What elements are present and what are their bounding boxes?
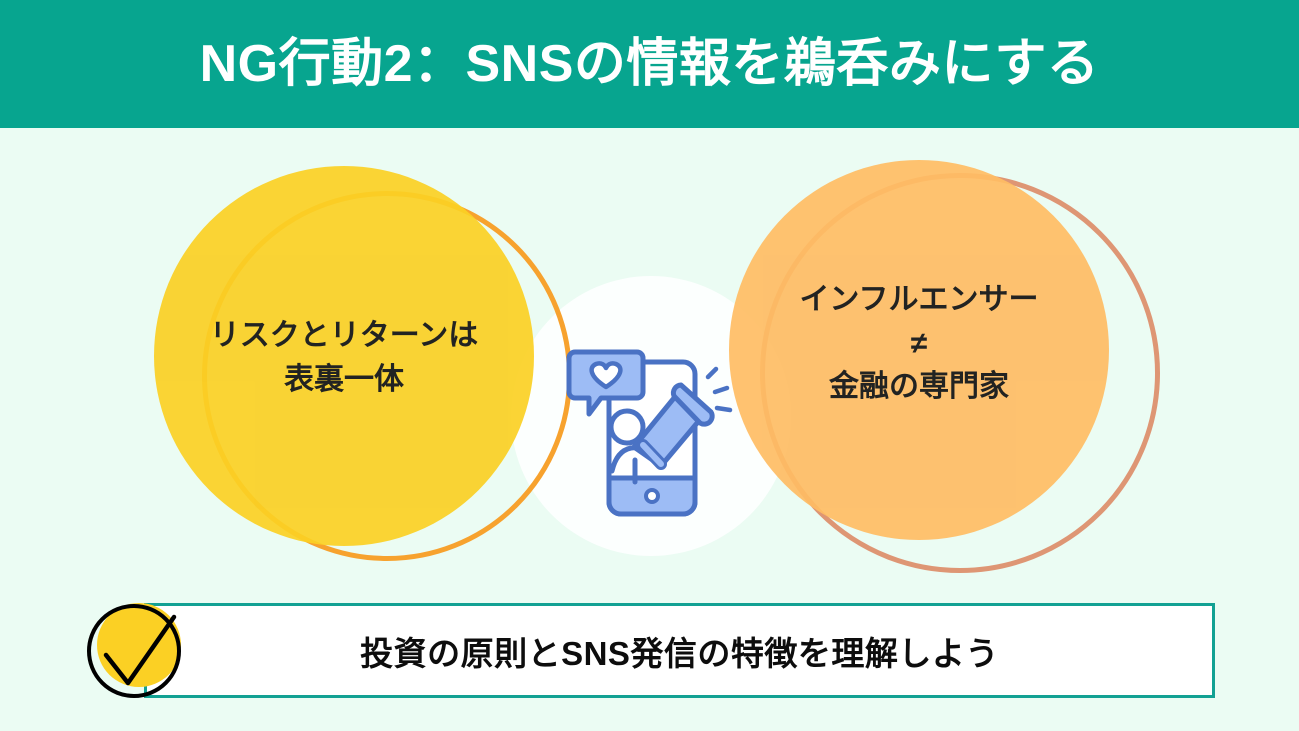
page-title: NG行動2：SNSの情報を鵜呑みにする xyxy=(200,38,1100,90)
concept-label-risk-return: リスクとリターンは 表裏一体 xyxy=(154,314,534,401)
diagram-stage: リスクとリターンは 表裏一体 インフルエンサー ≠ 金融の専門家 xyxy=(0,128,1299,598)
slide-root: NG行動2：SNSの情報を鵜呑みにする リスクとリターンは 表裏一体 インフルエ… xyxy=(0,0,1299,731)
header-bar: NG行動2：SNSの情報を鵜呑みにする xyxy=(0,0,1299,128)
sns-megaphone-phone-icon xyxy=(565,340,735,530)
takeaway-text: 投資の原則とSNS発信の特徴を理解しよう xyxy=(360,627,999,675)
takeaway-banner: 投資の原則とSNS発信の特徴を理解しよう xyxy=(144,603,1215,698)
concept-label-influencer: インフルエンサー ≠ 金融の専門家 xyxy=(729,278,1109,409)
concept-circle-risk-return: リスクとリターンは 表裏一体 xyxy=(154,166,534,546)
concept-circle-influencer: インフルエンサー ≠ 金融の専門家 xyxy=(729,160,1109,540)
check-circle-badge xyxy=(82,595,192,705)
